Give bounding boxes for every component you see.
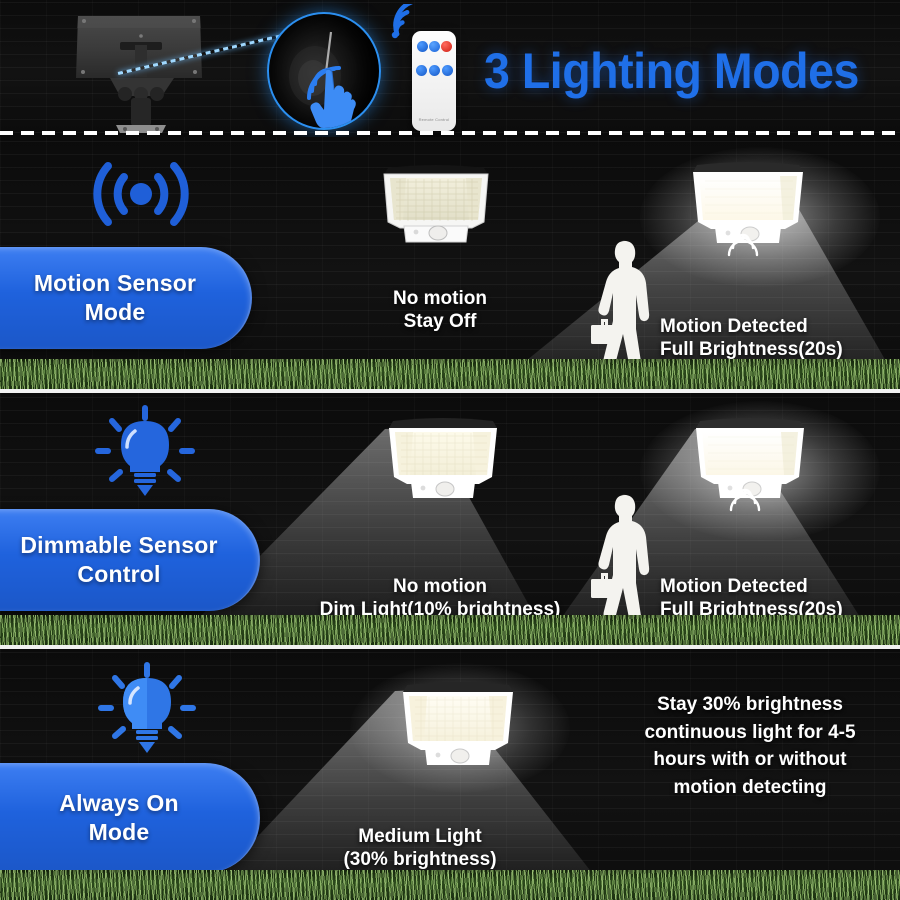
caption-line-1: Medium Light [300,825,540,848]
page-title: 3 Lighting Modes [484,42,859,100]
caption-medium-light: Medium Light (30% brightness) [300,825,540,871]
badge-always-on-mode: Always On Mode [0,763,260,873]
caption-line-3: hours with or without [600,746,900,774]
caption-line-1: Stay 30% brightness [600,691,900,719]
caption-no-motion-stay-off: No motion Stay Off [350,287,530,333]
badge-dimmable-sensor-control: Dimmable Sensor Control [0,509,260,611]
caption-motion-detected-full: Motion Detected Full Brightness(20s) [660,315,900,361]
touch-hand-signal-icon [267,12,381,130]
motion-ripple-icon [722,233,764,263]
section-always-on-mode: Always On Mode [0,649,900,900]
caption-line-2: (30% brightness) [300,848,540,871]
grass-strip [0,359,900,389]
remote-control[interactable]: Remote Control [412,31,456,131]
motion-wave-icon [88,155,194,233]
walking-person-silhouette [582,237,666,367]
caption-line-2: Full Brightness(20s) [660,338,900,361]
caption-line-2: continuous light for 4-5 [600,719,900,747]
caption-line-2: Stay Off [350,310,530,333]
badge-line-1: Dimmable Sensor [20,532,217,558]
motion-ripple-icon [724,488,766,518]
remote-button-power[interactable] [441,41,452,52]
badge-line-1: Motion Sensor [34,270,196,296]
section-dimmable-sensor-control: Dimmable Sensor Control [0,393,900,645]
badge-line-2: Control [77,561,160,587]
badge-motion-sensor-mode: Motion Sensor Mode [0,247,252,349]
lamp-off [376,162,496,250]
remote-brand-label: Remote Control [412,117,456,122]
grass-strip [0,870,900,900]
light-bulb-solid-icon [92,661,202,757]
lamp-dim-light [381,415,505,505]
caption-line-4: motion detecting [600,774,900,802]
remote-button-wifi[interactable] [429,41,440,52]
badge-line-2: Mode [89,819,150,845]
section-divider-1 [0,131,900,135]
caption-line-1: No motion [290,575,590,598]
caption-line-1: Motion Detected [660,575,900,598]
lamp-medium-light [395,679,521,773]
grass-strip [0,615,900,645]
badge-line-2: Mode [85,299,146,325]
remote-button-3[interactable] [429,65,440,76]
remote-button-1[interactable] [417,41,428,52]
caption-line-1: No motion [350,287,530,310]
infographic-page: Remote Control 3 Lighting Modes [0,0,900,900]
caption-line-1: Motion Detected [660,315,900,338]
solar-wall-light-back [62,8,217,133]
section-motion-sensor-mode: Motion Sensor Mode [0,137,900,389]
badge-line-1: Always On [59,790,178,816]
remote-button-4[interactable] [442,65,453,76]
caption-always-on-description: Stay 30% brightness continuous light for… [600,691,900,801]
remote-button-2[interactable] [416,65,427,76]
light-bulb-outline-icon [90,403,200,501]
walking-person-silhouette [582,491,666,623]
